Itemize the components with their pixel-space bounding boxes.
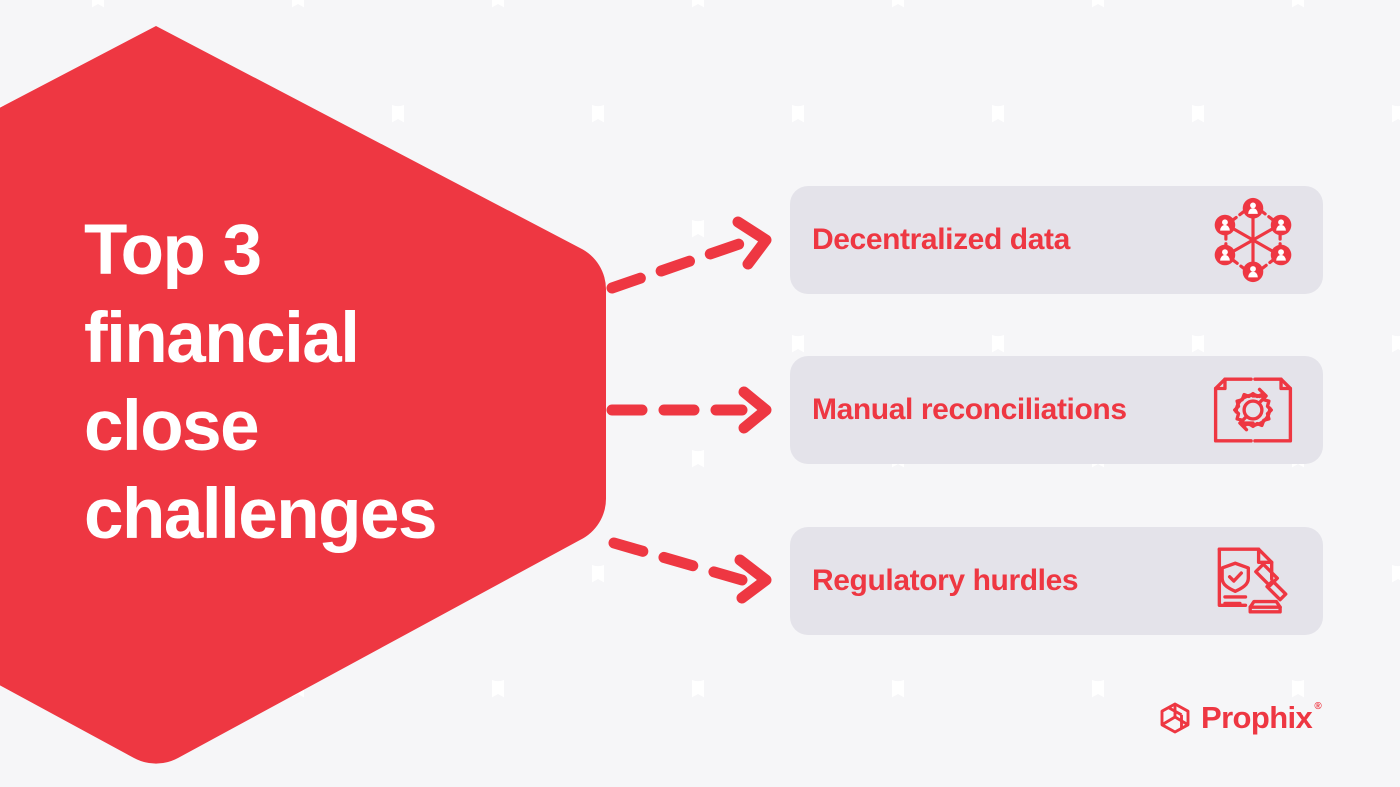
documents-gear-sync-icon (1207, 367, 1299, 453)
title-line-3: close (84, 383, 554, 471)
challenge-card-label: Manual reconciliations (812, 393, 1127, 427)
arrow-to-decentralized-data (612, 222, 766, 288)
title-line-1: Top 3 (84, 207, 554, 295)
network-of-people-icon (1207, 197, 1299, 283)
challenge-card-label: Regulatory hurdles (812, 564, 1078, 598)
slide-canvas: Top 3 financial close challenges Decentr… (0, 0, 1400, 787)
title-line-4: challenges (84, 471, 554, 559)
prophix-wordmark: Prophix ® (1201, 700, 1312, 736)
challenge-card-label: Decentralized data (812, 223, 1070, 257)
title-line-2: financial (84, 295, 554, 383)
arrow-to-regulatory-hurdles (614, 543, 766, 598)
page-title: Top 3 financial close challenges (84, 207, 554, 559)
challenge-card-manual-reconciliations[interactable]: Manual reconciliations (790, 356, 1323, 464)
challenge-card-decentralized-data[interactable]: Decentralized data (790, 186, 1323, 294)
document-shield-gavel-icon (1207, 538, 1299, 624)
arrow-to-manual-reconciliations (612, 392, 766, 428)
prophix-wordmark-text: Prophix (1201, 700, 1312, 735)
trademark-symbol: ® (1314, 701, 1321, 712)
challenge-card-regulatory-hurdles[interactable]: Regulatory hurdles (790, 527, 1323, 635)
prophix-logo: Prophix ® (1158, 700, 1312, 736)
prophix-cube-icon (1158, 701, 1192, 735)
